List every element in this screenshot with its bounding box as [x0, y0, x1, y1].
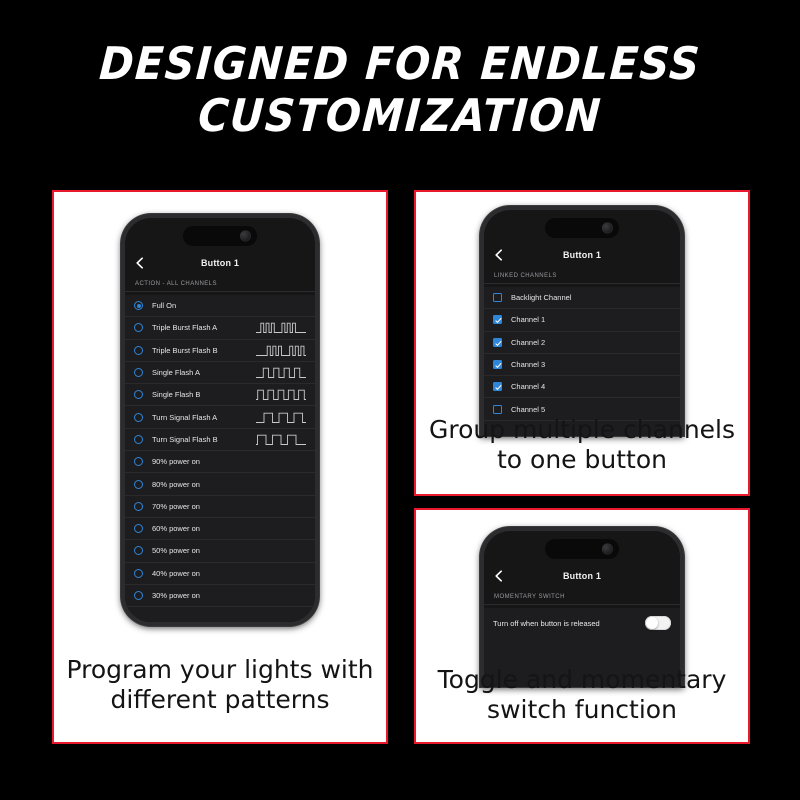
- nav-title: Button 1: [201, 258, 239, 268]
- pattern-row[interactable]: 60% power on: [125, 518, 315, 540]
- phone-screen: Button 1 LINKED CHANNELS Backlight Chann…: [484, 210, 680, 436]
- nav-title: Button 1: [563, 250, 601, 260]
- pattern-label: 80% power on: [152, 480, 200, 489]
- pattern-label: Turn Signal Flash B: [152, 435, 218, 444]
- phone-mockup-channels: Button 1 LINKED CHANNELS Backlight Chann…: [416, 206, 748, 436]
- radio-unselected[interactable]: [134, 524, 143, 533]
- momentary-toggle-switch[interactable]: [645, 616, 671, 630]
- checkbox-checked[interactable]: [493, 315, 502, 324]
- caption-momentary: Toggle and momentary switch function: [426, 665, 738, 724]
- channel-label: Channel 1: [511, 315, 545, 324]
- channel-label: Channel 5: [511, 405, 545, 414]
- pattern-row[interactable]: Full On: [125, 295, 315, 317]
- chevron-left-icon[interactable]: [134, 257, 146, 269]
- pattern-row[interactable]: Triple Burst Flash B: [125, 340, 315, 362]
- radio-unselected[interactable]: [134, 502, 143, 511]
- pattern-label: Single Flash A: [152, 368, 200, 377]
- section-header-momentary: MOMENTARY SWITCH: [484, 589, 680, 605]
- pattern-row[interactable]: Turn Signal Flash A: [125, 406, 315, 428]
- pattern-list[interactable]: Full OnTriple Burst Flash ATriple Burst …: [125, 295, 315, 622]
- pattern-row[interactable]: Turn Signal Flash B: [125, 429, 315, 451]
- pattern-label: 30% power on: [152, 591, 200, 600]
- phone-mockup-momentary: Button 1 MOMENTARY SWITCH Turn off when …: [416, 527, 748, 687]
- channel-label: Channel 3: [511, 360, 545, 369]
- checkbox-checked[interactable]: [493, 338, 502, 347]
- checkbox-unchecked[interactable]: [493, 405, 502, 414]
- channel-row[interactable]: Channel 2: [484, 332, 680, 354]
- pattern-label: Full On: [152, 301, 176, 310]
- radio-unselected[interactable]: [134, 413, 143, 422]
- pattern-label: 40% power on: [152, 569, 200, 578]
- dynamic-island: [545, 539, 619, 559]
- dynamic-island: [545, 218, 619, 238]
- waveform-turn-signal-b-icon: [256, 433, 306, 446]
- pattern-row[interactable]: 40% power on: [125, 563, 315, 585]
- radio-unselected[interactable]: [134, 546, 143, 555]
- title-line-2: CUSTOMIZATION: [31, 94, 770, 138]
- pattern-row[interactable]: 90% power on: [125, 451, 315, 473]
- checkbox-unchecked[interactable]: [493, 293, 502, 302]
- pattern-row[interactable]: Single Flash A: [125, 362, 315, 384]
- panel-momentary: Button 1 MOMENTARY SWITCH Turn off when …: [414, 508, 750, 744]
- channel-row[interactable]: Channel 3: [484, 354, 680, 376]
- toggle-knob: [646, 617, 658, 629]
- front-camera-icon: [602, 223, 613, 234]
- pattern-label: Turn Signal Flash A: [152, 413, 217, 422]
- volume-button: [121, 338, 122, 372]
- phone-mockup-patterns: Button 1 ACTION - ALL CHANNELS Full OnTr…: [54, 214, 386, 626]
- volume-button: [480, 302, 481, 332]
- dynamic-island: [183, 226, 257, 246]
- momentary-toggle-label: Turn off when button is released: [493, 619, 600, 628]
- pattern-row[interactable]: Single Flash B: [125, 384, 315, 406]
- channel-label: Channel 4: [511, 382, 545, 391]
- volume-button: [480, 617, 481, 643]
- radio-unselected[interactable]: [134, 457, 143, 466]
- phone-frame: Button 1 ACTION - ALL CHANNELS Full OnTr…: [121, 214, 319, 626]
- pattern-row[interactable]: Triple Burst Flash A: [125, 317, 315, 339]
- app-navbar: Button 1: [484, 242, 680, 269]
- radio-unselected[interactable]: [134, 323, 143, 332]
- phone-screen: Button 1 MOMENTARY SWITCH Turn off when …: [484, 531, 680, 687]
- waveform-single-flash-b-icon: [256, 388, 306, 401]
- chevron-left-icon[interactable]: [493, 570, 505, 582]
- pattern-label: 50% power on: [152, 546, 200, 555]
- radio-unselected[interactable]: [134, 346, 143, 355]
- pattern-row[interactable]: 70% power on: [125, 496, 315, 518]
- waveform-triple-burst-a-icon: [256, 321, 306, 334]
- section-header-action: ACTION - ALL CHANNELS: [125, 276, 315, 292]
- chevron-left-icon[interactable]: [493, 249, 505, 261]
- pattern-label: 90% power on: [152, 457, 200, 466]
- promo-graphic: DESIGNED FOR ENDLESS CUSTOMIZATION: [0, 0, 800, 800]
- app-navbar: Button 1: [125, 250, 315, 277]
- channel-row[interactable]: Channel 4: [484, 376, 680, 398]
- pattern-row[interactable]: 50% power on: [125, 540, 315, 562]
- caption-channels: Group multiple channels to one button: [426, 415, 738, 474]
- channel-label: Channel 2: [511, 338, 545, 347]
- momentary-toggle-row[interactable]: Turn off when button is released: [484, 608, 680, 638]
- caption-patterns: Program your lights with different patte…: [64, 655, 376, 714]
- pattern-label: 60% power on: [152, 524, 200, 533]
- title-line-1: DESIGNED FOR ENDLESS: [31, 42, 770, 86]
- panel-channels: Button 1 LINKED CHANNELS Backlight Chann…: [414, 190, 750, 496]
- waveform-single-flash-a-icon: [256, 366, 306, 379]
- phone-frame: Button 1 LINKED CHANNELS Backlight Chann…: [480, 206, 684, 436]
- checkbox-checked[interactable]: [493, 360, 502, 369]
- radio-unselected[interactable]: [134, 435, 143, 444]
- radio-unselected[interactable]: [134, 390, 143, 399]
- phone-frame: Button 1 MOMENTARY SWITCH Turn off when …: [480, 527, 684, 687]
- phone-screen: Button 1 ACTION - ALL CHANNELS Full OnTr…: [125, 218, 315, 622]
- radio-unselected[interactable]: [134, 480, 143, 489]
- radio-unselected[interactable]: [134, 591, 143, 600]
- front-camera-icon: [240, 231, 251, 242]
- radio-selected[interactable]: [134, 301, 143, 310]
- waveform-turn-signal-a-icon: [256, 411, 306, 424]
- pattern-label: 70% power on: [152, 502, 200, 511]
- pattern-row[interactable]: 30% power on: [125, 585, 315, 607]
- nav-title: Button 1: [563, 571, 601, 581]
- app-navbar: Button 1: [484, 563, 680, 590]
- pattern-label: Single Flash B: [152, 390, 200, 399]
- front-camera-icon: [602, 544, 613, 555]
- channel-row[interactable]: Channel 1: [484, 309, 680, 331]
- channel-list[interactable]: Backlight ChannelChannel 1Channel 2Chann…: [484, 287, 680, 436]
- radio-unselected[interactable]: [134, 569, 143, 578]
- pattern-label: Triple Burst Flash A: [152, 323, 217, 332]
- pattern-label: Triple Burst Flash B: [152, 346, 218, 355]
- section-header-linked-channels: LINKED CHANNELS: [484, 268, 680, 284]
- panel-patterns: Button 1 ACTION - ALL CHANNELS Full OnTr…: [52, 190, 388, 744]
- page-title: DESIGNED FOR ENDLESS CUSTOMIZATION: [0, 42, 800, 137]
- radio-unselected[interactable]: [134, 368, 143, 377]
- checkbox-checked[interactable]: [493, 382, 502, 391]
- channel-row[interactable]: Backlight Channel: [484, 287, 680, 309]
- channel-label: Backlight Channel: [511, 293, 571, 302]
- waveform-triple-burst-b-icon: [256, 344, 306, 357]
- pattern-row[interactable]: 80% power on: [125, 473, 315, 495]
